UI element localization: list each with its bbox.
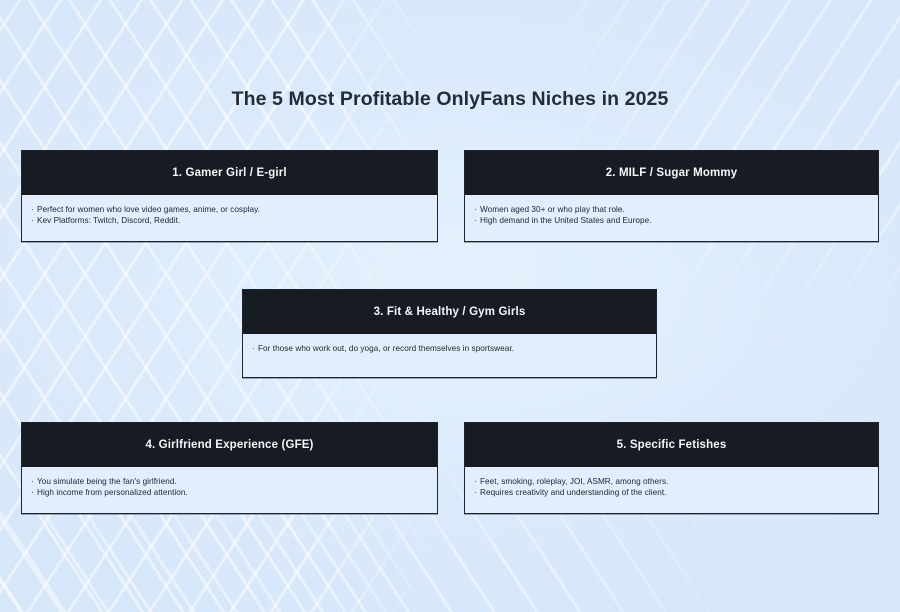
niche-card-5-header: 5. Specific Fetishes: [465, 423, 878, 467]
list-item: ·Requires creativity and understanding o…: [474, 487, 869, 498]
list-item-text: High income from personalized attention.: [37, 488, 188, 497]
list-item: ·Women aged 30+ or who play that role.: [474, 204, 869, 215]
niche-card-2-body: ·Women aged 30+ or who play that role. ·…: [465, 195, 878, 241]
infographic-canvas: The 5 Most Profitable OnlyFans Niches in…: [0, 0, 900, 612]
niche-card-3-body: ·For those who work out, do yoga, or rec…: [243, 334, 656, 377]
list-item: ·You simulate being the fan's girlfriend…: [31, 476, 428, 487]
list-item-text: High demand in the United States and Eur…: [480, 216, 652, 225]
niche-card-2: 2. MILF / Sugar Mommy ·Women aged 30+ or…: [464, 150, 879, 242]
list-item: ·High demand in the United States and Eu…: [474, 215, 869, 226]
list-item: ·Perfect for women who love video games,…: [31, 204, 428, 215]
list-item-text: For those who work out, do yoga, or reco…: [258, 344, 514, 353]
niche-card-2-header: 2. MILF / Sugar Mommy: [465, 151, 878, 195]
list-item-text: Perfect for women who love video games, …: [37, 205, 260, 214]
list-item: ·Kev Platforms: Twitch, Discord, Reddit.: [31, 215, 428, 226]
page-title: The 5 Most Profitable OnlyFans Niches in…: [0, 88, 900, 111]
list-item-text: Feet, smoking, roleplay, JOI, ASMR, amon…: [480, 477, 668, 486]
list-item-text: Women aged 30+ or who play that role.: [480, 205, 625, 214]
niche-card-3-header: 3. Fit & Healthy / Gym Girls: [243, 290, 656, 334]
list-item: ·For those who work out, do yoga, or rec…: [252, 343, 647, 354]
niche-card-4: 4. Girlfriend Experience (GFE) ·You simu…: [21, 422, 438, 514]
list-item-text: Requires creativity and understanding of…: [480, 488, 666, 497]
niche-card-1: 1. Gamer Girl / E-girl ·Perfect for wome…: [21, 150, 438, 242]
niche-card-5: 5. Specific Fetishes ·Feet, smoking, rol…: [464, 422, 879, 514]
niche-card-5-body: ·Feet, smoking, roleplay, JOI, ASMR, amo…: [465, 467, 878, 513]
niche-card-3: 3. Fit & Healthy / Gym Girls ·For those …: [242, 289, 657, 378]
list-item: ·Feet, smoking, roleplay, JOI, ASMR, amo…: [474, 476, 869, 487]
list-item: ·High income from personalized attention…: [31, 487, 428, 498]
niche-card-1-header: 1. Gamer Girl / E-girl: [22, 151, 437, 195]
list-item-text: You simulate being the fan's girlfriend.: [37, 477, 177, 486]
list-item-text: Kev Platforms: Twitch, Discord, Reddit.: [37, 216, 180, 225]
niche-card-4-body: ·You simulate being the fan's girlfriend…: [22, 467, 437, 513]
niche-card-4-header: 4. Girlfriend Experience (GFE): [22, 423, 437, 467]
niche-card-1-body: ·Perfect for women who love video games,…: [22, 195, 437, 241]
